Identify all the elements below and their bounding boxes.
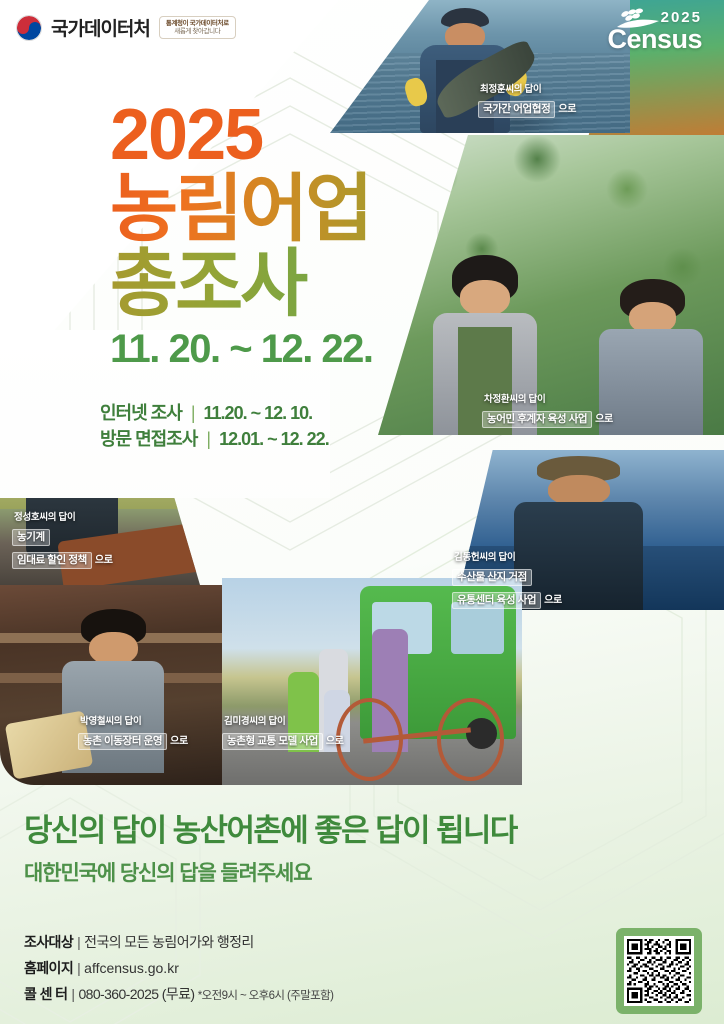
caption-greenhouse-successor: 차정환씨의 답이 농어민 후계자 육성 사업으로: [482, 394, 613, 428]
caption-highlight-2: 임대료 할인 정책: [12, 552, 92, 569]
agency-name: 국가데이터처: [51, 14, 150, 41]
footer-row-callcenter: 콜 센 터|080-360-2025 (무료) *오전9시 ~ 오후6시 (주말…: [24, 982, 333, 1008]
schedule-period: 12.01. ~ 12. 22.: [219, 429, 329, 449]
title-line-3: 총조사: [110, 246, 373, 321]
footer-label: 홈페이지: [24, 960, 73, 976]
footer-row-website: 홈페이지|affcensus.go.kr: [24, 956, 333, 982]
caption-person: 정성호씨의 답이: [12, 512, 113, 524]
caption-suffix: 으로: [558, 104, 576, 115]
caption-highlight: 농어민 후계자 육성 사업: [482, 411, 592, 428]
caption-tractor-rental: 정성호씨의 답이 농기계 임대료 할인 정책으로: [12, 512, 113, 569]
wheat-icon: [615, 8, 661, 30]
caption-highlight: 수산물 산지 거점: [452, 569, 532, 586]
caption-person: 김미경씨의 답이: [222, 716, 344, 728]
footer-value: 전국의 모든 농림어가와 행정리: [84, 934, 254, 950]
schedule-label: 방문 면접조사: [100, 429, 197, 449]
caption-fisherman-agreement: 최정훈씨의 답이 국가간 어업협정으로: [478, 84, 576, 118]
badge-line-2: 새롭게 찾아갑니다: [166, 28, 229, 35]
qr-code-icon[interactable]: [624, 936, 694, 1006]
photo-greenhouse-workers: [378, 135, 724, 435]
caption-person: 김동헌씨의 답이: [452, 552, 562, 564]
callcenter-hours: *오전9시 ~ 오후6시 (주말포함): [198, 990, 334, 1002]
footer-bar: |: [71, 986, 74, 1002]
schedule-separator: |: [191, 403, 195, 423]
caption-person: 차정환씨의 답이: [482, 394, 613, 406]
caption-suffix: 으로: [170, 736, 188, 747]
footer-bar: |: [77, 960, 80, 976]
caption-highlight: 농촌형 교통 모델 사업: [222, 733, 323, 750]
poster-title: 2025 농림어업 총조사 11. 20. ~ 12. 22.: [110, 100, 373, 372]
taegeuk-emblem-icon: [16, 15, 42, 41]
header-branding: 국가데이터처 통계청이 국가데이터처로 새롭게 찾아갑니다: [16, 14, 236, 41]
schedule-period: 11.20. ~ 12. 10.: [204, 403, 313, 423]
title-date-range: 11. 20. ~ 12. 22.: [110, 327, 373, 372]
title-line-2: 농림어업: [110, 171, 373, 246]
caption-highlight: 농촌 이동장터 운영: [78, 733, 167, 750]
footer-row-target: 조사대상|전국의 모든 농림어가와 행정리: [24, 930, 333, 956]
caption-suffix: 으로: [95, 555, 113, 566]
badge-line-1: 통계청이 국가데이터처로: [166, 20, 229, 27]
title-year: 2025: [110, 100, 373, 171]
qr-code-panel[interactable]: [616, 928, 702, 1014]
slogan-sub: 대한민국에 당신의 답을 들려주세요: [24, 857, 517, 887]
photo-shopkeeper: [0, 585, 222, 785]
caption-highlight-2: 유통센터 육성 사업: [452, 592, 541, 609]
caption-highlight: 국가간 어업협정: [478, 101, 555, 118]
footer-info: 조사대상|전국의 모든 농림어가와 행정리 홈페이지|affcensus.go.…: [24, 930, 333, 1008]
caption-seafood-distribution: 김동헌씨의 답이 수산물 산지 거점 유통센터 육성 사업으로: [452, 552, 562, 609]
slogan-main: 당신의 답이 농산어촌에 좋은 답이 됩니다: [24, 812, 517, 849]
poster-slogan: 당신의 답이 농산어촌에 좋은 답이 됩니다 대한민국에 당신의 답을 들려주세…: [24, 812, 517, 887]
survey-schedule: 인터넷 조사 | 11.20. ~ 12. 10. 방문 면접조사 | 12.0…: [100, 400, 329, 452]
schedule-row-visit: 방문 면접조사 | 12.01. ~ 12. 22.: [100, 426, 329, 452]
caption-highlight: 농기계: [12, 529, 50, 546]
caption-suffix: 으로: [595, 414, 613, 425]
footer-value: 080-360-2025 (무료): [78, 986, 194, 1002]
agency-rename-badge: 통계청이 국가데이터처로 새롭게 찾아갑니다: [159, 16, 236, 39]
caption-suffix: 으로: [544, 595, 562, 606]
footer-label: 콜 센 터: [24, 986, 67, 1002]
caption-person: 최정훈씨의 답이: [478, 84, 576, 96]
caption-mobile-market: 박영철씨의 답이 농촌 이동장터 운영으로: [78, 716, 188, 750]
caption-person: 박영철씨의 답이: [78, 716, 188, 728]
schedule-row-internet: 인터넷 조사 | 11.20. ~ 12. 10.: [100, 400, 329, 426]
caption-rural-transport: 김미경씨의 답이 농촌형 교통 모델 사업으로: [222, 716, 344, 750]
schedule-label: 인터넷 조사: [100, 403, 182, 423]
footer-bar: |: [77, 934, 80, 950]
footer-label: 조사대상: [24, 934, 73, 950]
census-logo: 2025 Census: [607, 10, 702, 53]
census-poster: 최정훈씨의 답이 국가간 어업협정으로 차정환씨의 답이 농어민 후계자 육성 …: [0, 0, 724, 1024]
caption-suffix: 으로: [326, 736, 344, 747]
website-url[interactable]: affcensus.go.kr: [84, 960, 179, 976]
schedule-separator: |: [206, 429, 210, 449]
census-wordmark: Census: [607, 26, 702, 53]
